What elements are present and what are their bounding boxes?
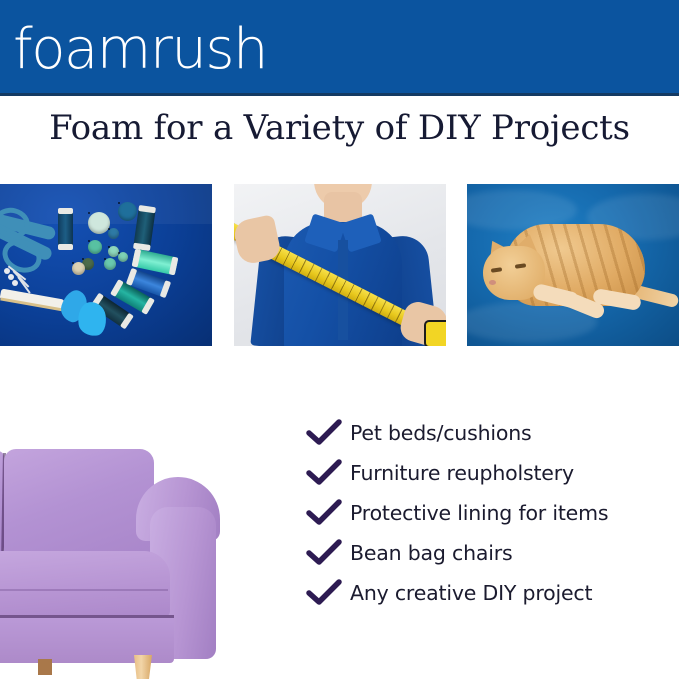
benefit-label: Bean bag chairs <box>350 541 512 565</box>
check-icon <box>305 458 345 488</box>
benefits-list: Pet beds/cushions Furniture reupholstery… <box>305 413 679 613</box>
list-item: Protective lining for items <box>305 493 679 533</box>
check-icon <box>305 498 345 528</box>
benefit-label: Protective lining for items <box>350 501 608 525</box>
list-item: Bean bag chairs <box>305 533 679 573</box>
brand-banner: foamrush <box>0 0 679 95</box>
list-item: Pet beds/cushions <box>305 413 679 453</box>
check-icon <box>305 578 345 608</box>
list-item: Any creative DIY project <box>305 573 679 613</box>
sofa-illustration <box>0 447 288 679</box>
tape-measure-photo <box>234 184 446 346</box>
benefit-label: Furniture reupholstery <box>350 461 574 485</box>
benefit-label: Pet beds/cushions <box>350 421 531 445</box>
page-title: Foam for a Variety of DIY Projects <box>0 108 679 148</box>
check-icon <box>305 538 345 568</box>
sewing-supplies-photo <box>0 184 212 346</box>
cat-on-cushion-photo <box>467 184 679 346</box>
photo-row <box>0 184 679 346</box>
brand-logo: foamrush <box>13 18 267 82</box>
check-icon <box>305 418 345 448</box>
banner-underline <box>0 93 679 96</box>
benefit-label: Any creative DIY project <box>350 581 592 605</box>
list-item: Furniture reupholstery <box>305 453 679 493</box>
promo-image: foamrush Foam for a Variety of DIY Proje… <box>0 0 679 679</box>
